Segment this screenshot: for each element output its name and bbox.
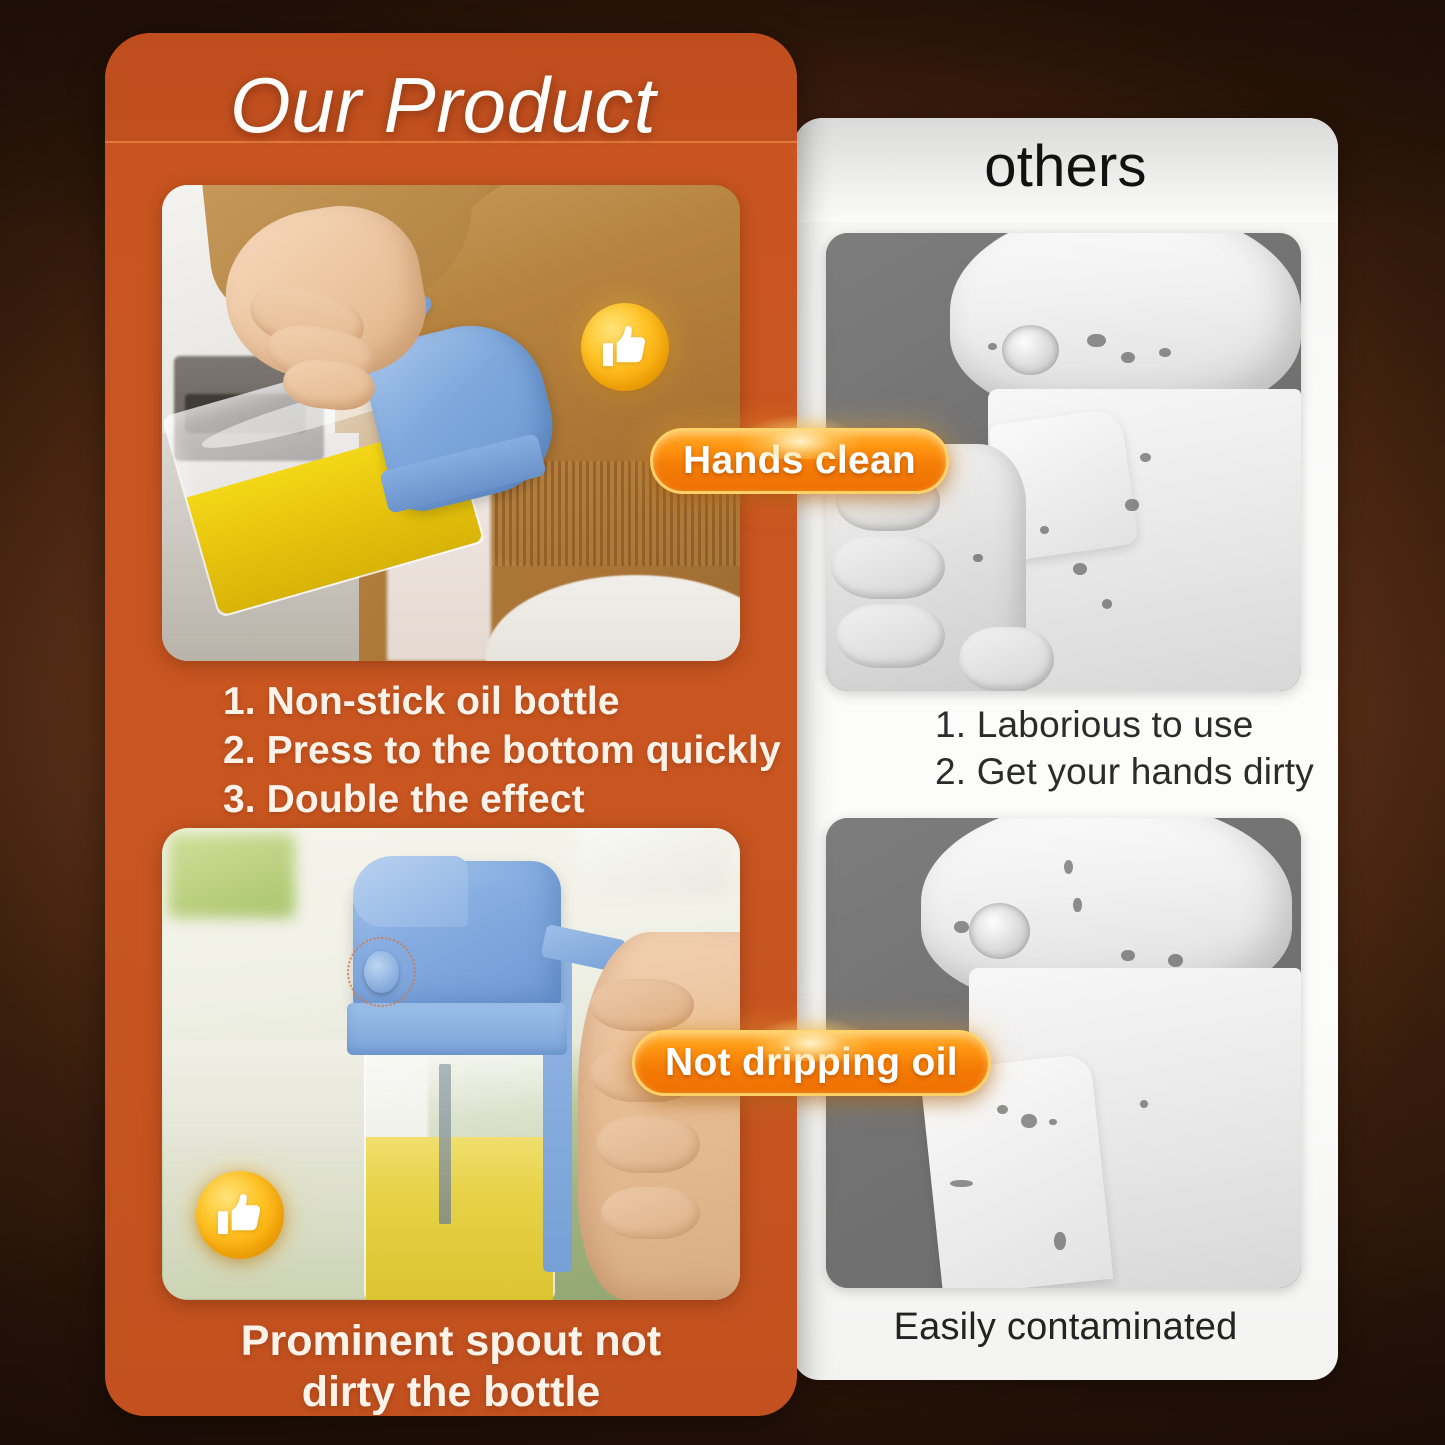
others-caption: Easily contaminated xyxy=(793,1306,1338,1349)
feature-item: 1. Non-stick oil bottle xyxy=(223,677,783,726)
not-dripping-oil-badge: Not dripping oil xyxy=(632,1030,991,1096)
thumbs-up-icon xyxy=(581,303,669,391)
drawback-item: 1. Laborious to use xyxy=(935,701,1335,748)
thumbs-up-icon xyxy=(196,1171,284,1259)
our-product-feature-list: 1. Non-stick oil bottle 2. Press to the … xyxy=(223,677,783,824)
our-product-caption: Prominent spout not dirty the bottle xyxy=(145,1316,757,1416)
feature-item: 3. Double the effect xyxy=(223,775,783,824)
feature-item: 2. Press to the bottom quickly xyxy=(223,726,783,775)
caption-line: Prominent spout not xyxy=(145,1316,757,1367)
others-drawback-list: 1. Laborious to use 2. Get your hands di… xyxy=(935,701,1335,796)
hand-pouring-oil-bottle-photo xyxy=(162,185,740,661)
caption-line: dirty the bottle xyxy=(145,1367,757,1416)
others-panel: others 1. Laborious to use 2. G xyxy=(793,118,1338,1380)
hands-clean-badge: Hands clean xyxy=(650,428,949,494)
others-title: others xyxy=(793,138,1338,196)
drawback-item: 2. Get your hands dirty xyxy=(935,748,1335,795)
page-title: Our Product xyxy=(105,66,797,144)
